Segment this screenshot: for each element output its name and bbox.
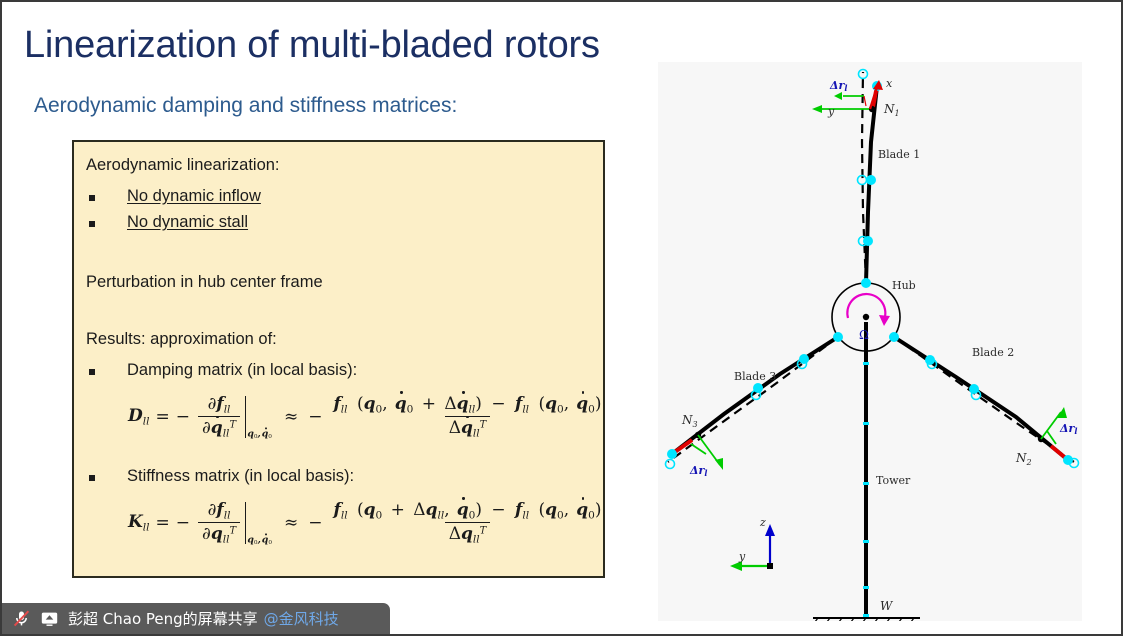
bullet-square-icon: [89, 369, 95, 375]
perturbation-paragraph: Perturbation in hub center frame: [86, 273, 323, 292]
label-delta-r-blade1: Δrl: [829, 79, 847, 93]
eq-stiffness-lhs: Kll: [128, 512, 150, 533]
label-hub: Hub: [892, 279, 916, 292]
blade3-arrow-head: [715, 458, 723, 470]
content-box: Aerodynamic linearization: No dynamic in…: [72, 140, 605, 578]
microphone-muted-icon[interactable]: [12, 609, 31, 628]
hub-center-dot: [863, 314, 869, 320]
eq-stiffness-eval: q0, q0: [245, 502, 272, 545]
eq-stiffness-minus: −: [176, 513, 190, 533]
label-node-n3: N3: [681, 413, 698, 429]
bullet-no-dynamic-stall: No dynamic stall: [127, 213, 248, 232]
label-axis-x: x: [886, 77, 893, 90]
label-axis-y-global: y: [738, 550, 746, 563]
eq-damping-diff-frac: fll (q0, q0 + Δqll) − fll (q0, q0) ΔqllT: [329, 394, 605, 440]
eq-damping-minus2: −: [308, 407, 322, 427]
eq-stiffness-diff-frac: fll (q0 + Δqll, q0) − fll (q0, q0) ΔqllT: [330, 500, 606, 546]
bullet-stiffness-matrix: Stiffness matrix (in local basis):: [127, 467, 354, 486]
arrow-head-x-axis: [834, 92, 842, 100]
eq-damping-approx: ≈: [284, 407, 298, 427]
eq-damping-minus: −: [176, 407, 190, 427]
page-subtitle: Aerodynamic damping and stiffness matric…: [34, 94, 457, 118]
label-omega: Ω: [859, 328, 869, 342]
label-blade2: Blade 2: [972, 346, 1014, 359]
bullet-square-icon: [89, 475, 95, 481]
rotation-arrow-head: [879, 315, 890, 326]
slide-root: Linearization of multi-bladed rotors Aer…: [0, 0, 1123, 636]
eq-damping-equals: =: [156, 407, 170, 427]
screen-share-icon[interactable]: [40, 609, 59, 628]
label-blade3: Blade 3: [734, 370, 776, 383]
eq-damping-partial-frac: ∂fll ∂qllT: [198, 394, 240, 440]
blade3-undeformed: [668, 337, 838, 462]
blade1-small-marks: [864, 96, 866, 106]
label-axis-y: y: [827, 105, 835, 118]
global-axes: z y: [730, 516, 775, 571]
share-owner-text: 彭超 Chao Peng的屏幕共享: [68, 608, 258, 629]
eq-damping-eval: q0, q0: [245, 396, 272, 439]
label-blade1: Blade 1: [878, 148, 920, 161]
rotor-figure-panel: W Tower Ω Hub N1 Blad: [658, 62, 1082, 621]
slide-frame-left: [0, 0, 2, 636]
results-heading: Results: approximation of:: [86, 330, 277, 349]
equation-stiffness: Kll = − ∂fll ∂qllT q0, q0 ≈ − fll (q0: [128, 500, 608, 546]
label-delta-r-blade3: Δrl: [689, 464, 707, 478]
eq-stiffness-approx: ≈: [284, 513, 298, 533]
equation-damping: Dll = − ∂fll ∂qllT q0, q0 ≈ − fll (q0,: [128, 394, 608, 440]
eq-stiffness-equals: =: [156, 513, 170, 533]
label-node-n1: N1: [883, 102, 900, 118]
screen-share-status-bar[interactable]: 彭超 Chao Peng的屏幕共享 @金风科技: [2, 603, 390, 634]
slide-frame-top: [0, 0, 1123, 2]
bullet-no-dynamic-inflow: No dynamic inflow: [127, 187, 261, 206]
label-node-n2: N2: [1015, 451, 1032, 467]
aero-linearization-heading: Aerodynamic linearization:: [86, 156, 280, 175]
eq-stiffness-partial-frac: ∂fll ∂qllT: [198, 500, 240, 546]
share-org-handle: @金风科技: [264, 608, 339, 629]
bullet-square-icon: [89, 195, 95, 201]
bullet-square-icon: [89, 221, 95, 227]
label-ground-w: W: [880, 599, 894, 613]
eq-damping-lhs: Dll: [128, 406, 150, 427]
label-axis-z-global: z: [759, 516, 766, 529]
arrow-head-y-axis: [812, 105, 822, 113]
bullet-damping-matrix: Damping matrix (in local basis):: [127, 361, 357, 380]
blade2-arrow-head: [1057, 407, 1067, 418]
page-title: Linearization of multi-bladed rotors: [24, 24, 600, 67]
eq-stiffness-minus2: −: [308, 513, 322, 533]
label-delta-r-blade2: Δrl: [1059, 422, 1077, 436]
label-tower: Tower: [876, 474, 911, 487]
blade1-nodes: [858, 70, 883, 289]
